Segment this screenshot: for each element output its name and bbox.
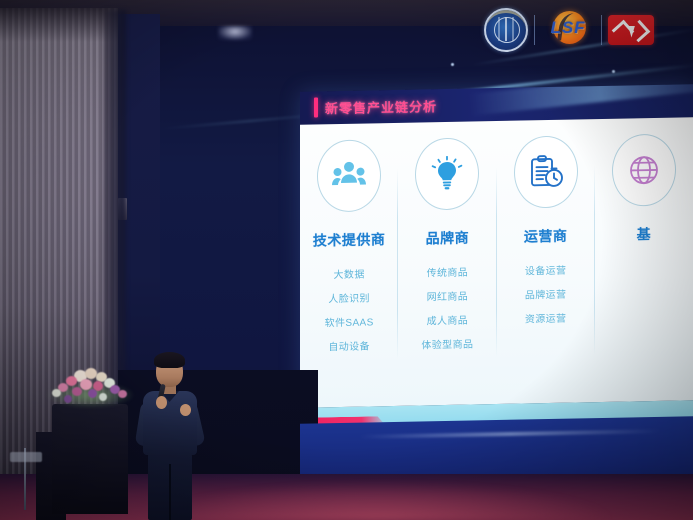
sparkle xyxy=(451,63,454,66)
presenter-left-hand xyxy=(156,396,167,409)
column-title: 运营商 xyxy=(524,226,568,247)
column-items: 设备运营 品牌运营 资源运营 xyxy=(525,262,567,326)
column-item: 大数据 xyxy=(334,266,365,282)
slide-body: 技术提供商 大数据 人脸识别 软件SAAS 自动设备 xyxy=(300,117,693,408)
column-item: 网红商品 xyxy=(427,288,469,304)
logo-red-wing xyxy=(608,7,654,53)
slide-column-infrastructure: 基 xyxy=(595,117,693,402)
column-item: 体验型商品 xyxy=(421,335,473,351)
logo-globe-association xyxy=(484,7,528,53)
column-item: 软件SAAS xyxy=(325,313,374,329)
red-wing-logo-icon xyxy=(608,15,654,45)
sparkle xyxy=(612,70,615,73)
globe-network-icon xyxy=(612,134,676,207)
header-glow xyxy=(470,84,693,116)
globe-association-logo-icon xyxy=(484,8,528,52)
slide-columns: 技术提供商 大数据 人脸识别 软件SAAS 自动设备 xyxy=(300,117,693,408)
slide-column-tech-provider: 技术提供商 大数据 人脸识别 软件SAAS 自动设备 xyxy=(300,123,398,408)
curtain-shadow xyxy=(0,8,118,42)
projection-screen: 新零售产业链分析 xyxy=(300,84,693,430)
column-item: 自动设备 xyxy=(328,337,370,353)
column-item: 品牌运营 xyxy=(525,286,567,302)
logo-divider xyxy=(534,15,535,45)
people-group-icon xyxy=(317,139,381,212)
column-item: 资源运营 xyxy=(525,310,567,326)
column-item: 传统商品 xyxy=(427,264,469,280)
logo-divider xyxy=(601,15,602,45)
stage-floor-glow xyxy=(150,482,610,520)
column-item: 人脸识别 xyxy=(328,289,370,305)
slide-column-operator: 运营商 设备运营 品牌运营 资源运营 xyxy=(497,119,595,404)
lsf-logo-text: LSF xyxy=(541,18,595,38)
presenter xyxy=(134,352,206,520)
equipment-case xyxy=(10,452,42,462)
conference-photo: LSF 新零售产业链分析 xyxy=(0,0,693,520)
ceiling-light xyxy=(218,26,252,40)
column-items: 大数据 人脸识别 软件SAAS 自动设备 xyxy=(325,265,374,353)
presenter-hair xyxy=(154,352,185,368)
flower-arrangement xyxy=(44,366,136,414)
column-item: 设备运营 xyxy=(525,262,567,278)
logo-bar: LSF xyxy=(484,6,690,54)
slide-title: 新零售产业链分析 xyxy=(325,96,437,117)
slide-title-accent-bar xyxy=(314,97,318,117)
logo-lsf: LSF xyxy=(541,7,595,53)
presenter-leg-split xyxy=(169,464,171,520)
column-title: 技术提供商 xyxy=(313,229,386,250)
column-title: 基 xyxy=(637,224,652,244)
lightbulb-icon xyxy=(415,137,479,210)
presenter-right-hand xyxy=(180,404,191,416)
column-item: 成人商品 xyxy=(427,312,469,328)
column-items: 传统商品 网红商品 成人商品 体验型商品 xyxy=(421,263,473,351)
slide-column-brand-owner: 品牌商 传统商品 网红商品 成人商品 体验型商品 xyxy=(398,121,496,406)
clipboard-timer-icon xyxy=(514,135,578,208)
column-title: 品牌商 xyxy=(426,228,470,249)
podium xyxy=(52,404,128,514)
